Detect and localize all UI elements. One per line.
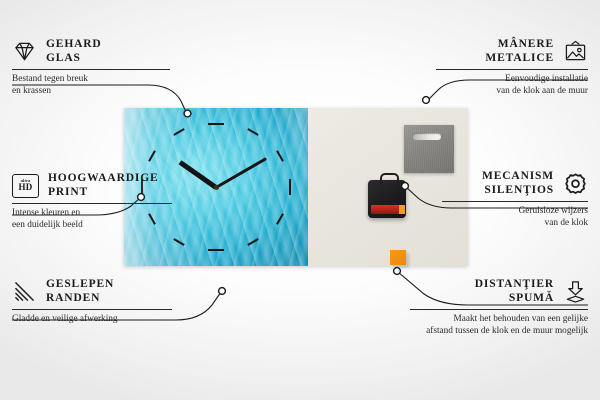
feature-description: Eenvoudige installatie van de klok aan d…	[436, 74, 588, 97]
clock-tick	[276, 150, 284, 161]
divider	[442, 201, 588, 202]
feature-title: DISTANŢIER SPUMĂ	[475, 278, 554, 305]
divider	[436, 69, 588, 70]
feature-title: MÂNERE METALICE	[485, 38, 554, 65]
ultra-hd-icon: ultra HD	[12, 174, 39, 198]
title-line: SPUMĂ	[509, 292, 554, 304]
clock-hour-hand	[179, 160, 218, 189]
feature-hoogwaardige-print: ultra HD HOOGWAARDIGE PRINT Intense kleu…	[12, 172, 172, 231]
desc-line: Bestand tegen breuk	[12, 74, 88, 84]
gear-icon	[563, 172, 588, 195]
clock-tick	[173, 129, 184, 137]
feature-description: Bestand tegen breuk en krassen	[12, 74, 170, 97]
battery-terminal	[399, 205, 405, 214]
desc-line: Gladde en veilige afwerking	[12, 314, 118, 324]
feature-gehard-glas: GEHARD GLAS Bestand tegen breuk en krass…	[12, 38, 170, 97]
title-line: GESLEPEN	[46, 278, 114, 290]
hanger-slot	[413, 133, 441, 140]
desc-line: van de klok aan de muur	[496, 86, 588, 96]
feature-title: GEHARD GLAS	[46, 38, 102, 65]
title-line: GLAS	[46, 52, 81, 64]
infographic-canvas: GEHARD GLAS Bestand tegen breuk en krass…	[0, 0, 600, 400]
title-line: MECANISM	[482, 170, 554, 182]
down-arrow-spacer-icon	[563, 280, 588, 303]
desc-line: van de klok	[545, 218, 588, 228]
title-line: METALICE	[485, 52, 554, 64]
feature-distantier-spuma: DISTANŢIER SPUMĂ Maakt het behouden van …	[410, 278, 588, 337]
foam-spacer	[390, 250, 406, 265]
product-image-group	[124, 108, 468, 266]
clock-tick	[173, 238, 184, 246]
divider	[12, 69, 170, 70]
battery	[371, 205, 402, 214]
title-line: HOOGWAARDIGE	[48, 172, 159, 184]
clock-tick	[276, 213, 284, 224]
leader-dot-edges	[219, 288, 226, 295]
clock-center-hub	[214, 185, 219, 190]
desc-line: en krassen	[12, 86, 51, 96]
title-line: SILENŢIOS	[484, 184, 554, 196]
feature-title: GESLEPEN RANDEN	[46, 278, 114, 305]
beveled-edge-icon	[12, 280, 37, 303]
leader-dot-handles	[423, 97, 430, 104]
feature-manere-metalice: MÂNERE METALICE Eenvoudige installatie v…	[436, 38, 588, 97]
divider	[12, 309, 172, 310]
clock-minute-hand	[215, 157, 267, 189]
divider	[12, 203, 172, 204]
title-line: PRINT	[48, 186, 88, 198]
feature-title: HOOGWAARDIGE PRINT	[48, 172, 159, 199]
leader-dot-spacer	[394, 268, 401, 275]
silent-clock-mechanism	[368, 180, 406, 218]
mechanism-hanging-loop	[380, 173, 399, 185]
diamond-icon	[12, 40, 37, 63]
feature-title: MECANISM SILENŢIOS	[482, 170, 554, 197]
desc-line: afstand tussen de klok en de muur mogeli…	[426, 326, 588, 336]
feature-description: Intense kleuren en een duidelijk beeld	[12, 208, 172, 231]
title-line: RANDEN	[46, 292, 100, 304]
feature-geslepen-randen: GESLEPEN RANDEN Gladde en veilige afwerk…	[12, 278, 172, 326]
divider	[410, 309, 588, 310]
clock-tick	[148, 150, 156, 161]
desc-line: Intense kleuren en	[12, 208, 80, 218]
feature-mecanism-silentios: MECANISM SILENŢIOS Geruisloze wijzers va…	[442, 170, 588, 229]
desc-line: een duidelijk beeld	[12, 220, 83, 230]
desc-line: Geruisloze wijzers	[519, 206, 588, 216]
clock-tick	[208, 249, 224, 251]
title-line: DISTANŢIER	[475, 278, 554, 290]
clock-tick	[247, 129, 258, 137]
clock-tick	[208, 123, 224, 125]
desc-line: Maakt het behouden van een gelijke	[454, 314, 589, 324]
desc-line: Eenvoudige installatie	[505, 74, 588, 84]
clock-tick	[247, 238, 258, 246]
ultra-hd-icon-bottom: HD	[18, 183, 32, 192]
title-line: MÂNERE	[498, 38, 554, 50]
metal-hanger-plate	[404, 125, 454, 173]
feature-description: Maakt het behouden van een gelijke afsta…	[410, 314, 588, 337]
feature-description: Geruisloze wijzers van de klok	[442, 206, 588, 229]
title-line: GEHARD	[46, 38, 102, 50]
wall-hanging-picture-icon	[563, 40, 588, 63]
clock-tick	[289, 179, 291, 195]
feature-description: Gladde en veilige afwerking	[12, 314, 172, 326]
